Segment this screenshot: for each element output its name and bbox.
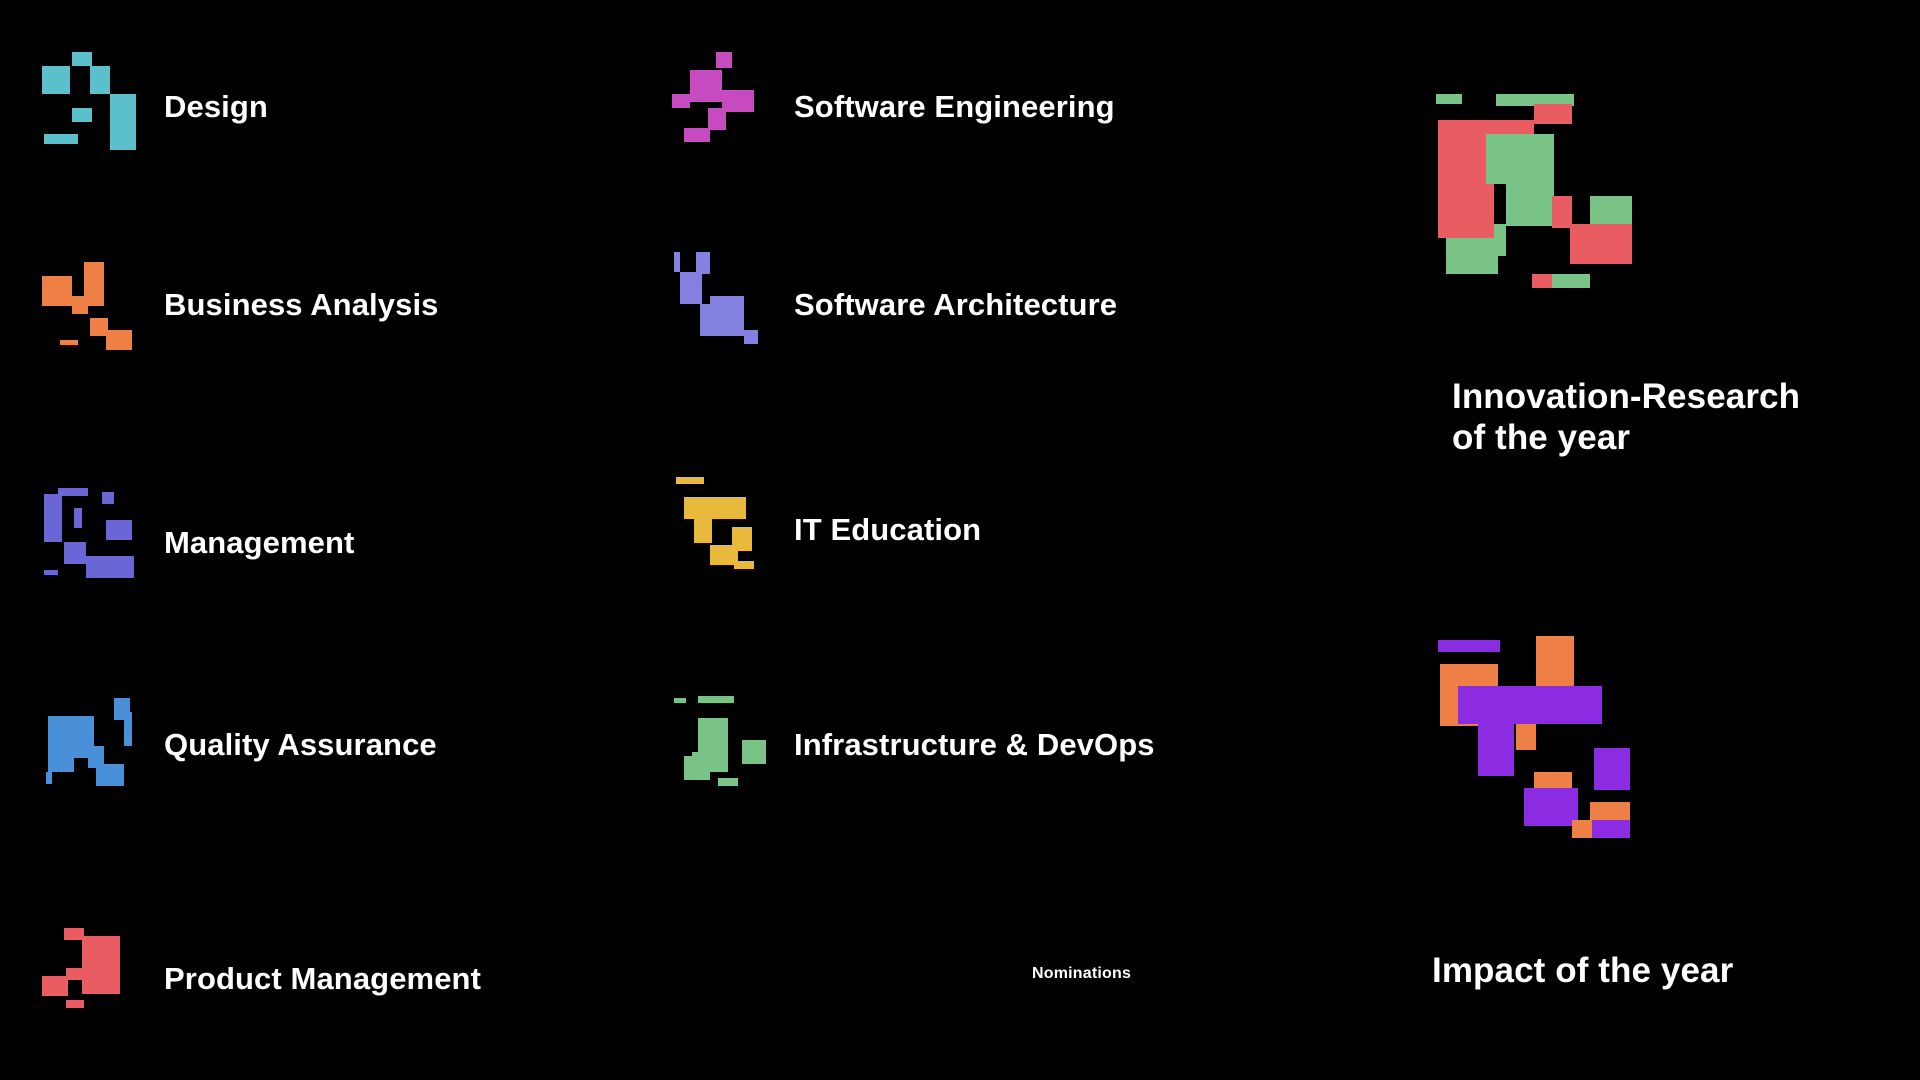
icon-block [74,508,82,528]
icon-block [744,330,758,344]
nomination-label: Management [164,527,354,558]
icon-block [48,716,74,772]
icon-block [698,696,734,703]
design-icon [42,52,150,160]
icon-block [742,740,766,764]
award-icon-block [1478,724,1514,776]
icon-block [72,52,92,66]
icon-block [676,477,704,484]
nomination-label: Infrastructure & DevOps [794,729,1155,760]
icon-block [72,108,92,122]
icon-block [98,960,120,994]
software-architecture-icon [672,250,780,358]
icon-block [124,712,132,746]
icon-block [46,772,52,784]
business-analysis-icon [42,250,150,358]
icon-block [42,276,72,306]
icon-block [700,304,744,336]
award-icon-block [1458,686,1602,724]
icon-block [106,330,132,350]
quality-assurance-icon [42,690,150,798]
award-icon-block [1524,788,1578,826]
nomination-label: Quality Assurance [164,729,437,760]
nominations-board: DesignBusiness AnalysisManagementQuality… [0,0,1920,1080]
icon-block [716,52,732,68]
nomination-item-design[interactable]: Design [42,52,268,160]
icon-block [42,66,70,94]
award-title: Innovation-Researchof the year [1452,376,1800,459]
icon-block [734,561,754,569]
icon-block [66,968,84,980]
award-icon-block [1436,94,1462,104]
award-title: Impact of the year [1432,950,1733,991]
nomination-label: Business Analysis [164,289,439,320]
icon-block [64,928,84,940]
innovation-research-icon [1428,88,1644,298]
award-icon-block [1506,134,1554,226]
nomination-label: IT Education [794,514,981,545]
section-caption: Nominations [1032,965,1131,983]
nomination-item-software-architecture[interactable]: Software Architecture [672,250,1117,358]
nomination-item-quality-assurance[interactable]: Quality Assurance [42,690,437,798]
icon-block [58,488,88,496]
award-icon-block [1570,224,1632,264]
icon-block [86,556,134,578]
icon-block [694,515,712,543]
icon-block [718,778,738,786]
icon-block [674,698,686,703]
icon-block [96,764,124,786]
icon-block [696,252,710,274]
icon-block [680,272,702,304]
icon-block [672,94,690,108]
award-icon-block [1438,640,1500,652]
icon-block [690,70,722,102]
award-icon-block [1536,636,1574,690]
award-icon-block [1572,820,1592,838]
award-icon-block [1552,196,1572,228]
award-icon-block [1590,820,1630,838]
nomination-label: Software Architecture [794,289,1117,320]
icon-block [684,128,710,142]
icon-block [674,252,680,272]
award-icon-block [1534,104,1572,124]
nomination-item-it-education[interactable]: IT Education [672,475,981,583]
icon-block [722,90,754,112]
icon-block [42,976,68,996]
product-management-icon [42,924,150,1032]
award-title-line: Impact of the year [1432,950,1733,991]
icon-block [44,570,58,575]
infrastructure-devops-icon [672,690,780,798]
nomination-item-management[interactable]: Management [42,488,354,596]
nomination-item-product-management[interactable]: Product Management [42,924,481,1032]
management-icon [42,488,150,596]
award-title-line: Innovation-Research [1452,376,1800,417]
award-icon-block [1516,724,1536,750]
icon-block [72,296,88,314]
nomination-label: Product Management [164,963,481,994]
nomination-label: Software Engineering [794,91,1115,122]
award-title-line: of the year [1452,417,1800,458]
icon-block [692,752,708,766]
icon-block [708,108,726,130]
icon-block [90,66,110,94]
award-icon-block [1552,274,1590,288]
icon-block [110,94,136,150]
nomination-item-infrastructure-devops[interactable]: Infrastructure & DevOps [672,690,1155,798]
award-icon-block [1594,748,1630,790]
software-engineering-icon [672,52,780,160]
icon-block [64,542,86,564]
award-icon-block [1446,238,1498,274]
icon-block [106,520,132,540]
nomination-label: Design [164,91,268,122]
it-education-icon [672,475,780,583]
icon-block [66,1000,84,1008]
icon-block [44,134,78,144]
nomination-item-business-analysis[interactable]: Business Analysis [42,250,439,358]
icon-block [60,340,78,345]
icon-block [44,494,62,542]
icon-block [102,492,114,504]
nomination-item-software-engineering[interactable]: Software Engineering [672,52,1115,160]
impact-of-the-year-icon [1428,628,1644,838]
